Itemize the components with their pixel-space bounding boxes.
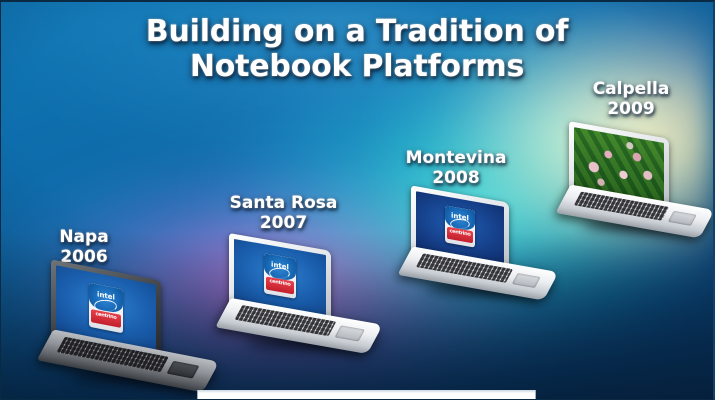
platform-label-calpella: Calpella 2009 — [571, 80, 691, 119]
platform-name-montevina: Montevina — [391, 149, 521, 169]
laptop-trackpad-santa-rosa — [335, 325, 365, 341]
platform-label-santa-rosa: Santa Rosa 2007 — [211, 194, 356, 233]
platform-label-napa: Napa 2006 — [29, 228, 139, 267]
laptop-santa-rosa: intel centrino — [223, 242, 383, 352]
laptop-trackpad-calpella — [668, 211, 697, 226]
presentation-slide: Building on a Tradition of Notebook Plat… — [0, 0, 715, 400]
platform-name-napa: Napa — [29, 228, 139, 248]
platform-name-calpella: Calpella — [571, 80, 691, 100]
bottom-white-bar — [197, 390, 536, 399]
laptop-calpella — [563, 130, 713, 234]
platform-year-calpella: 2009 — [571, 100, 691, 120]
platform-year-napa: 2006 — [29, 248, 139, 268]
laptop-trackpad-napa — [167, 361, 200, 379]
platform-year-santa-rosa: 2007 — [211, 214, 356, 234]
intel-centrino-badge-napa: intel centrino — [89, 283, 123, 334]
slide-title: Building on a Tradition of Notebook Plat… — [1, 14, 713, 85]
intel-centrino-badge-montevina: intel centrino — [445, 205, 475, 248]
laptop-montevina: intel centrino — [405, 194, 557, 298]
laptop-napa: intel centrino — [45, 270, 223, 388]
laptop-trackpad-montevina — [512, 273, 541, 288]
platform-year-montevina: 2008 — [391, 169, 521, 189]
platform-label-montevina: Montevina 2008 — [391, 149, 521, 188]
intel-centrino-badge-santa-rosa: intel centrino — [264, 253, 295, 299]
platform-name-santa-rosa: Santa Rosa — [211, 194, 356, 214]
